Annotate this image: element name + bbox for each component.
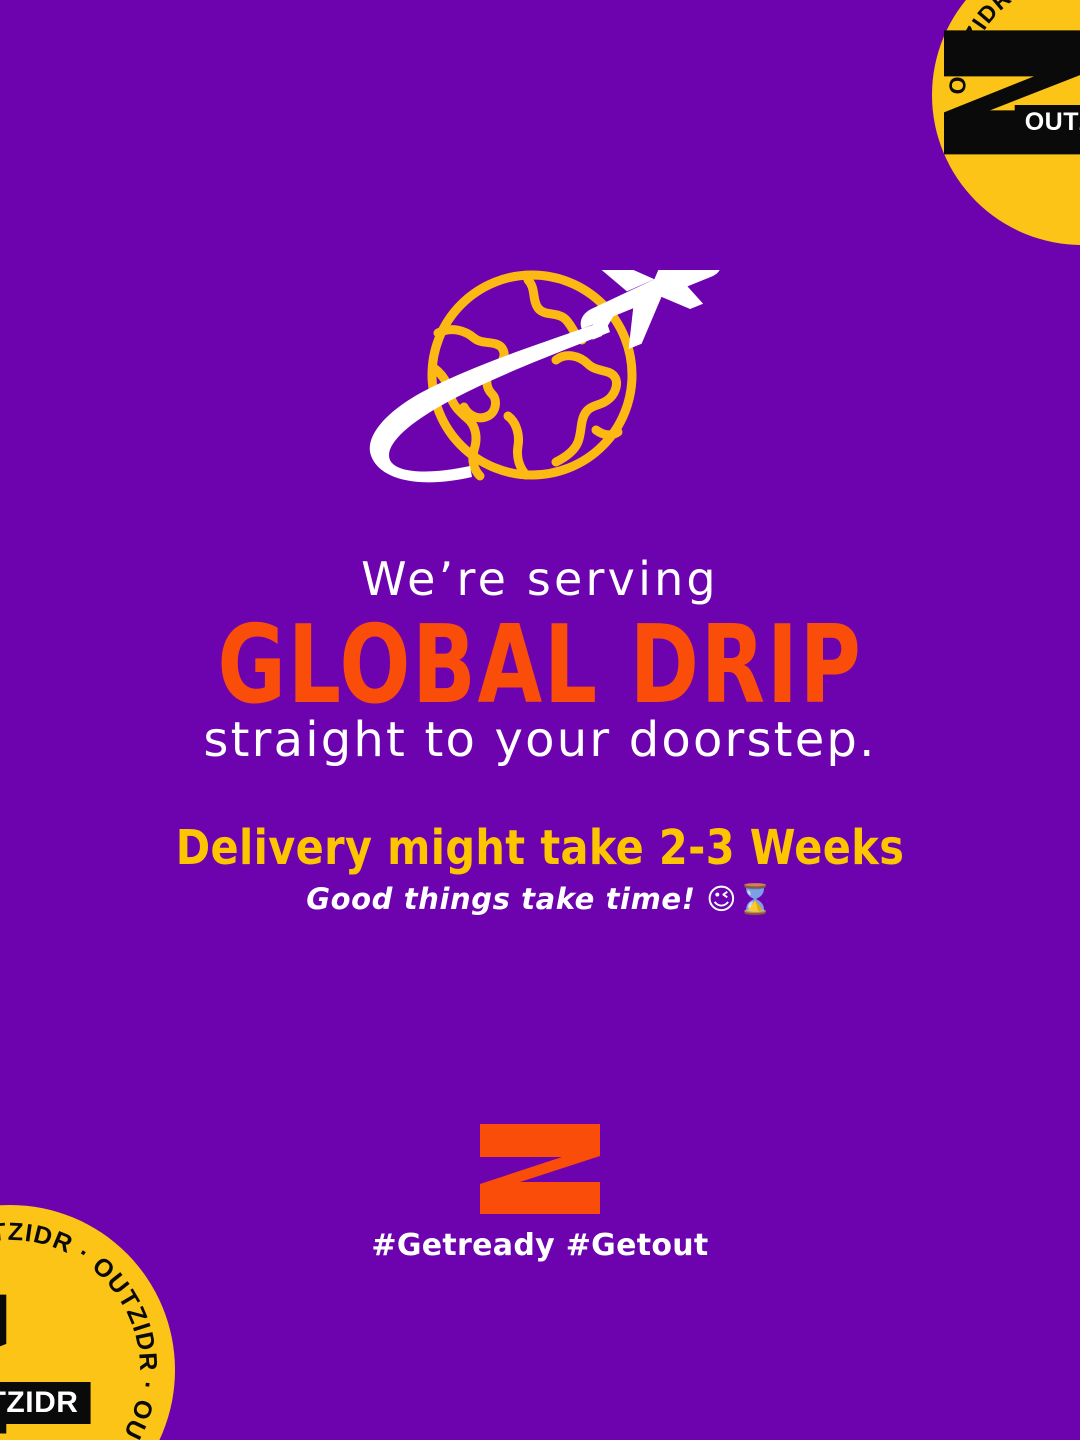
hero-illustration	[0, 270, 1080, 500]
delivery-subnote: Good things take time! 😉⌛	[0, 882, 1080, 917]
badge-wordmark-text-top-right: OUTZIDR	[1025, 108, 1080, 136]
airplane-icon	[561, 270, 720, 362]
subline-text: straight to your doorstep.	[0, 714, 1080, 767]
wink-hourglass-emoji: 😉⌛	[706, 882, 774, 916]
delivery-subnote-text: Good things take time!	[306, 882, 695, 916]
badge-wordmark-text-bottom-left: OUTZIDR	[0, 1386, 78, 1419]
outzidr-z-logo	[478, 1122, 602, 1216]
badge-wordmark-bottom-left: OUTZIDR	[0, 1382, 90, 1424]
badge-top-right: OUTZIDR · OUTZIDR · OUTZIDR · OUTZIDR · …	[932, 0, 1080, 245]
page-title: GLOBAL DRIP	[76, 612, 1005, 720]
badge-wordmark-top-right: OUTZIDR	[1015, 105, 1080, 140]
kicker-text: We’re serving	[0, 554, 1080, 605]
hashtags-text: #Getready #Getout	[371, 1228, 708, 1263]
delivery-notice: Delivery might take 2-3 Weeks	[22, 822, 1059, 875]
promo-poster: OUTZIDR · OUTZIDR · OUTZIDR · OUTZIDR · …	[0, 0, 1080, 1440]
footer-block: #Getready #Getout	[0, 1122, 1080, 1263]
